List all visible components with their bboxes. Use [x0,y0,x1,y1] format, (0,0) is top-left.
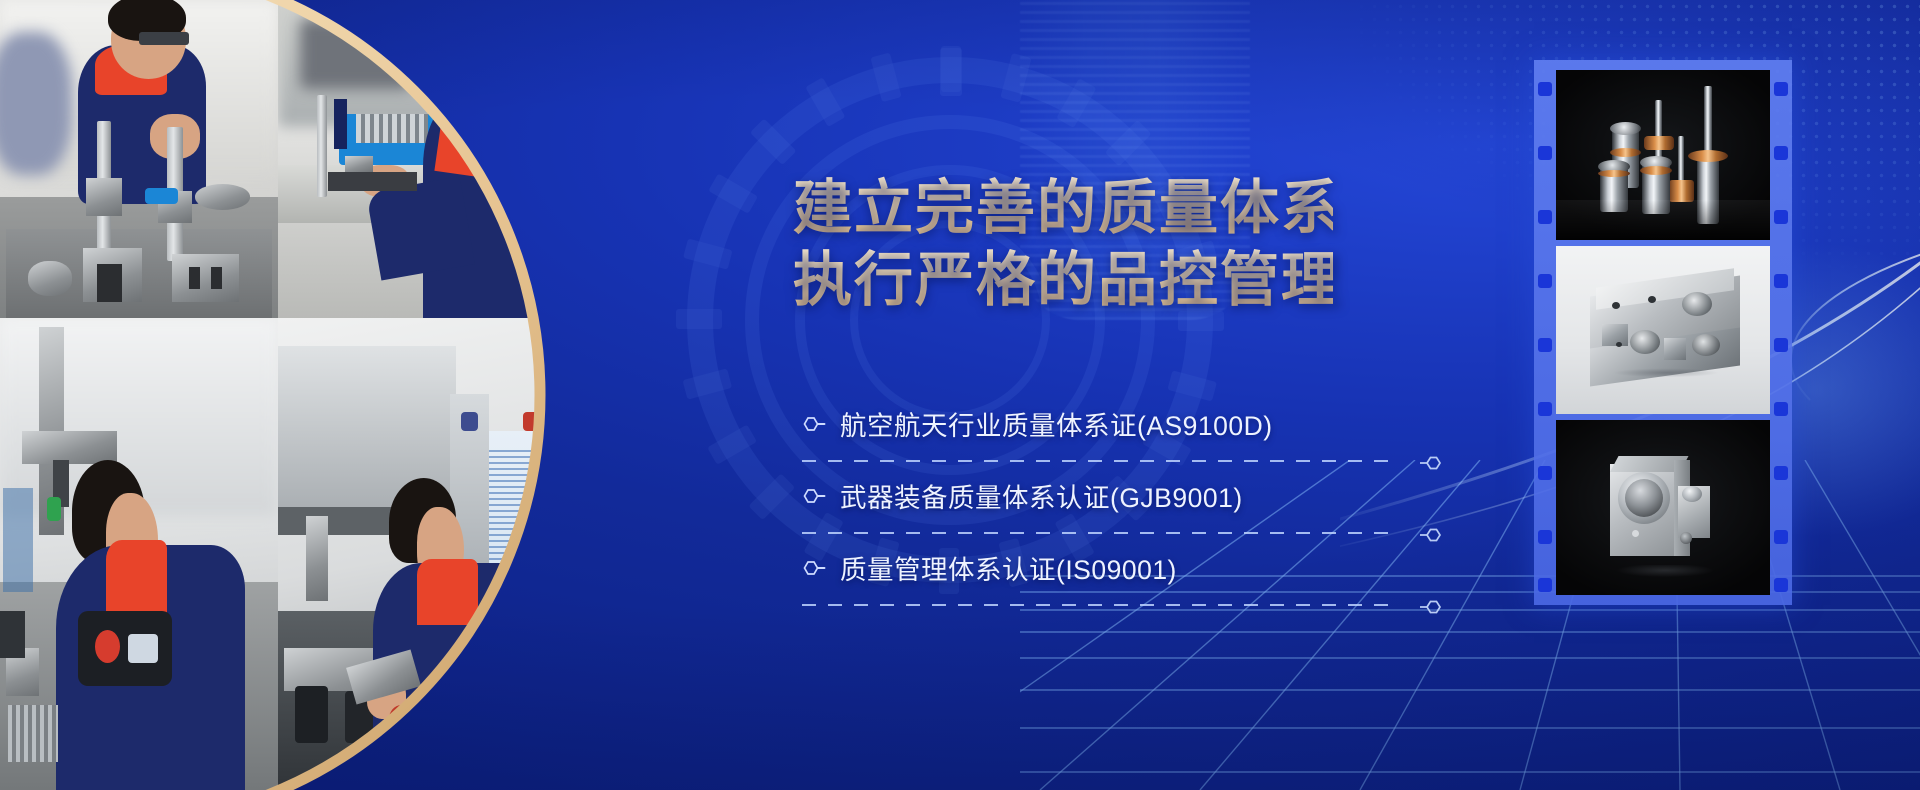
film-perforation [1538,578,1552,592]
certification-label: 武器装备质量体系认证(GJB9001) [840,476,1243,515]
film-perforation [1538,146,1552,160]
certification-item: 武器装备质量体系认证(GJB9001) [800,470,1460,542]
film-perforation [1538,466,1552,480]
film-perforation [1774,402,1788,416]
film-perforation [1774,210,1788,224]
film-perforation [1774,338,1788,352]
cnc-machine-operator-photo [278,318,556,790]
dashed-underline [802,604,1396,606]
headline: 建立完善的质量体系 执行严格的品控管理 [793,172,1333,316]
film-perforation [1538,530,1552,544]
quality-system-banner: 建立完善的质量体系 执行严格的品控管理 建立完善的质量体系 执行严格的品控管理 … [0,0,1920,790]
hexagon-bullet-icon [800,415,826,433]
aluminum-housing-product-photo [1556,246,1770,414]
film-perforation [1774,146,1788,160]
headline-line-2: 执行严格的品控管理 [793,244,1333,316]
film-perforation [1538,82,1552,96]
inspector-measuring-part-photo [0,0,278,318]
product-film-strip [1534,60,1792,605]
dashed-underline [802,460,1396,462]
dashed-underline [802,532,1396,534]
operator-checking-parts-photo [278,0,556,318]
certification-label: 质量管理体系认证(IS09001) [840,548,1177,587]
precision-shafts-product-photo [1556,70,1770,240]
bearing-block-product-photo [1556,420,1770,595]
photo-collage [0,0,556,790]
hexagon-bullet-icon [800,487,826,505]
cmm-operator-photo [0,318,278,790]
certification-list: 航空航天行业质量体系证(AS9100D) 武器装备质量体系认证(GJB9001) [800,398,1460,614]
film-perforation [1538,274,1552,288]
film-perforation [1774,274,1788,288]
headline-line-1: 建立完善的质量体系 [793,172,1333,244]
film-perforation [1538,402,1552,416]
film-perforation [1538,210,1552,224]
film-perforation [1774,466,1788,480]
certification-item: 质量管理体系认证(IS09001) [800,542,1460,614]
hexagon-bullet-icon [800,559,826,577]
film-perforation [1774,530,1788,544]
hexagon-end-icon [1420,598,1444,616]
certification-label: 航空航天行业质量体系证(AS9100D) [840,404,1273,443]
film-perforation [1774,82,1788,96]
film-perforation [1774,578,1788,592]
film-perforation [1538,338,1552,352]
certification-item: 航空航天行业质量体系证(AS9100D) [800,398,1460,470]
